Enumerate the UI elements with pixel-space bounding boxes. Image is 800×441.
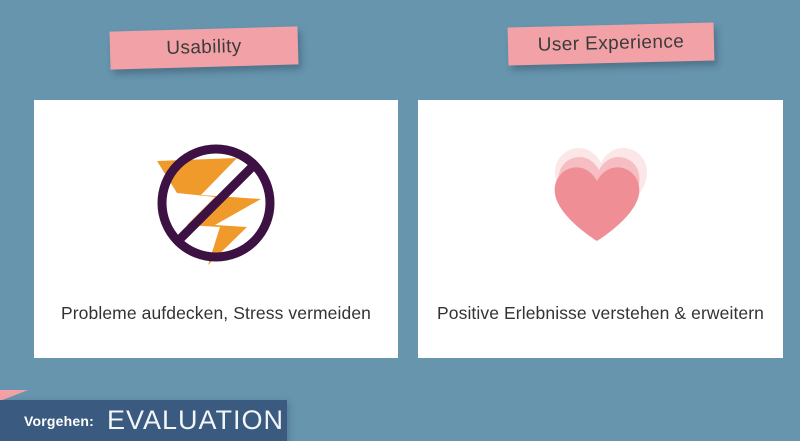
card-user-experience: Positive Erlebnisse verstehen & erweiter… (418, 100, 783, 358)
card-user-experience-caption: Positive Erlebnisse verstehen & erweiter… (418, 303, 783, 358)
banner-user-experience-label: User Experience (538, 31, 685, 57)
banner-usability-label: Usability (166, 36, 242, 60)
footer-title: EVALUATION (107, 405, 284, 436)
slide-canvas: Usability User Experience Probleme aufde… (0, 0, 800, 441)
footer-kicker-label: Vorgehen: (24, 413, 94, 429)
footer-band: Vorgehen: EVALUATION (0, 400, 287, 441)
no-lightning-bolt-icon (141, 127, 291, 277)
banner-usability: Usability (110, 26, 299, 69)
card-usability-caption: Probleme aufdecken, Stress vermeiden (34, 303, 398, 358)
nested-hearts-icon (526, 132, 676, 272)
card-user-experience-icon-area (418, 100, 783, 303)
card-usability: Probleme aufdecken, Stress vermeiden (34, 100, 398, 358)
card-usability-icon-area (34, 100, 398, 303)
banner-user-experience: User Experience (508, 22, 715, 65)
